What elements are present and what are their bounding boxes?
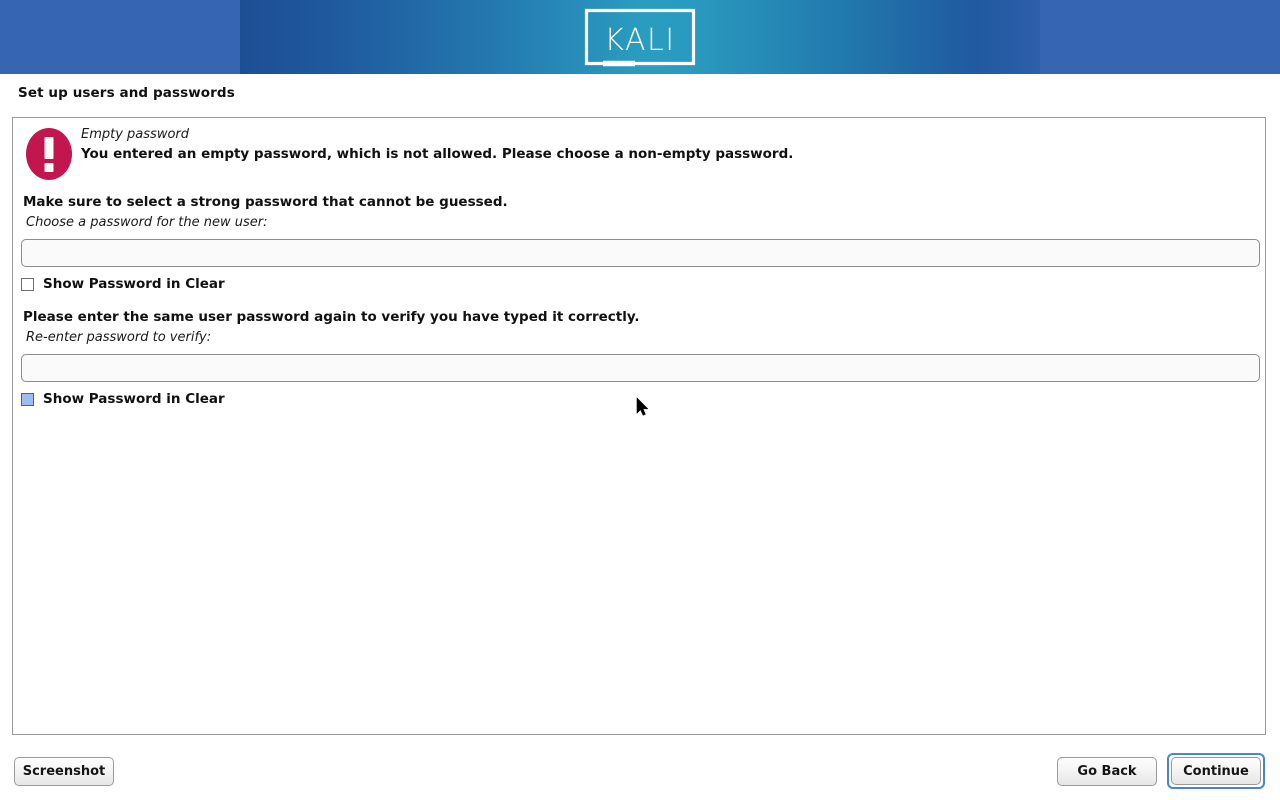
show-password-checkbox-label-2: Show Password in Clear	[43, 391, 225, 407]
kali-banner: KALI	[0, 0, 1280, 74]
error-exclamation-icon	[23, 126, 75, 182]
error-message-block: Empty password You entered an empty pass…	[13, 118, 1265, 196]
show-password-checkbox-label-1: Show Password in Clear	[43, 276, 225, 292]
verify-field-label: Re-enter password to verify:	[26, 330, 211, 345]
password-input[interactable]	[21, 239, 1260, 267]
error-title: Empty password	[81, 127, 189, 142]
error-text: You entered an empty password, which is …	[81, 146, 793, 162]
screenshot-button[interactable]: Screenshot	[14, 757, 114, 786]
kali-logo-icon: KALI	[583, 7, 697, 67]
show-password-in-clear-row-1[interactable]: Show Password in Clear	[21, 274, 225, 294]
verify-password-input[interactable]	[21, 354, 1260, 382]
svg-text:KALI: KALI	[604, 23, 675, 58]
page-title: Set up users and passwords	[18, 85, 235, 101]
installer-screen: KALI Set up users and passwords Empty pa…	[0, 0, 1280, 800]
show-password-in-clear-row-2[interactable]: Show Password in Clear	[21, 389, 225, 409]
verify-hint: Please enter the same user password agai…	[23, 309, 640, 325]
password-hint: Make sure to select a strong password th…	[23, 194, 508, 210]
go-back-button[interactable]: Go Back	[1057, 757, 1157, 786]
password-field-label: Choose a password for the new user:	[26, 215, 268, 230]
continue-button[interactable]: Continue	[1171, 757, 1261, 785]
main-panel: Empty password You entered an empty pass…	[12, 117, 1266, 735]
show-password-checkbox-2[interactable]	[21, 393, 34, 406]
show-password-checkbox-1[interactable]	[21, 278, 34, 291]
